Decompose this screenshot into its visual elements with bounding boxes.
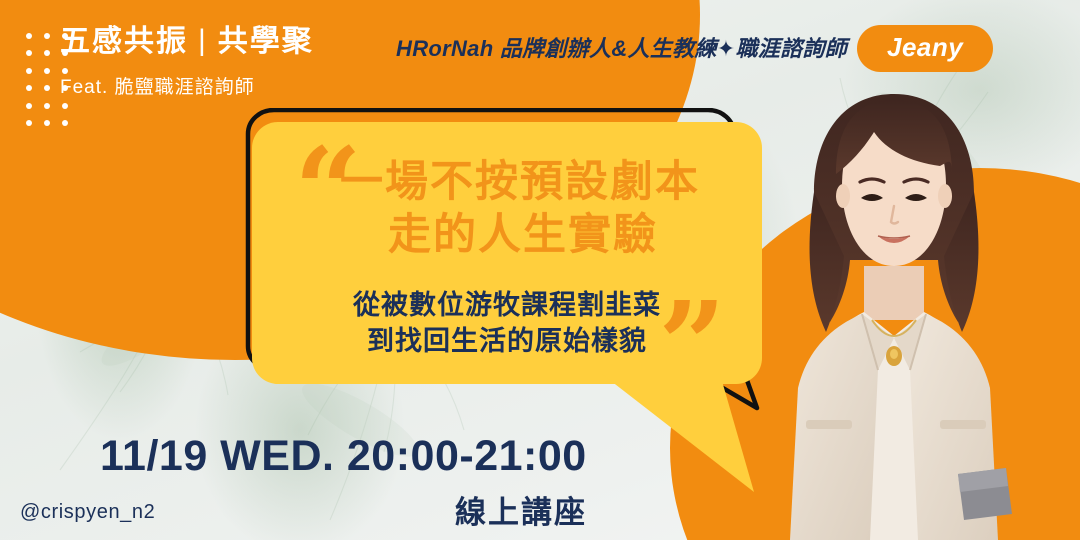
- subheadline-line-2: 到找回生活的原始樣貌: [252, 324, 762, 360]
- brand-title-right: 共學聚: [218, 25, 314, 58]
- brand-title-left: 五感共振: [60, 25, 188, 58]
- brand-block: 五感共振|共學聚 Feat. 脆鹽職涯諮詢師: [60, 24, 360, 99]
- headline-text: 一場不按預設劇本 走的人生實驗: [252, 156, 762, 263]
- event-mode-label: 線上講座: [455, 487, 587, 532]
- subheadline-text: 從被數位游牧課程割韭菜 到找回生活的原始樣貌: [252, 288, 762, 359]
- subheadline-line-1: 從被數位游牧課程割韭菜: [252, 288, 762, 324]
- brand-subtitle: Feat. 脆鹽職涯諮詢師: [60, 72, 360, 99]
- speech-bubble-body: “ ” 一場不按預設劇本 走的人生實驗 從被數位游牧課程割韭菜 到找回生活的原始…: [252, 122, 762, 384]
- speaker-name-badge: Jeany: [857, 25, 993, 72]
- speech-bubble-tail: [602, 374, 762, 494]
- poster-canvas: 五感共振|共學聚 Feat. 脆鹽職涯諮詢師 HRorNah 品牌創辦人&人生教…: [0, 0, 1080, 540]
- brand-title: 五感共振|共學聚: [60, 24, 360, 60]
- speaker-role-text: HRorNah 品牌創辦人&人生教練✦職涯諮詢師: [396, 31, 847, 63]
- social-handle: @crispyen_n2: [20, 501, 155, 524]
- headline-line-2: 走的人生實驗: [278, 209, 762, 262]
- event-date-time: 11/19 WED. 20:00-21:00: [100, 432, 587, 481]
- brand-title-separator: |: [198, 23, 208, 59]
- headline-line-1: 一場不按預設劇本: [278, 156, 762, 209]
- speaker-portrait: [744, 70, 1044, 540]
